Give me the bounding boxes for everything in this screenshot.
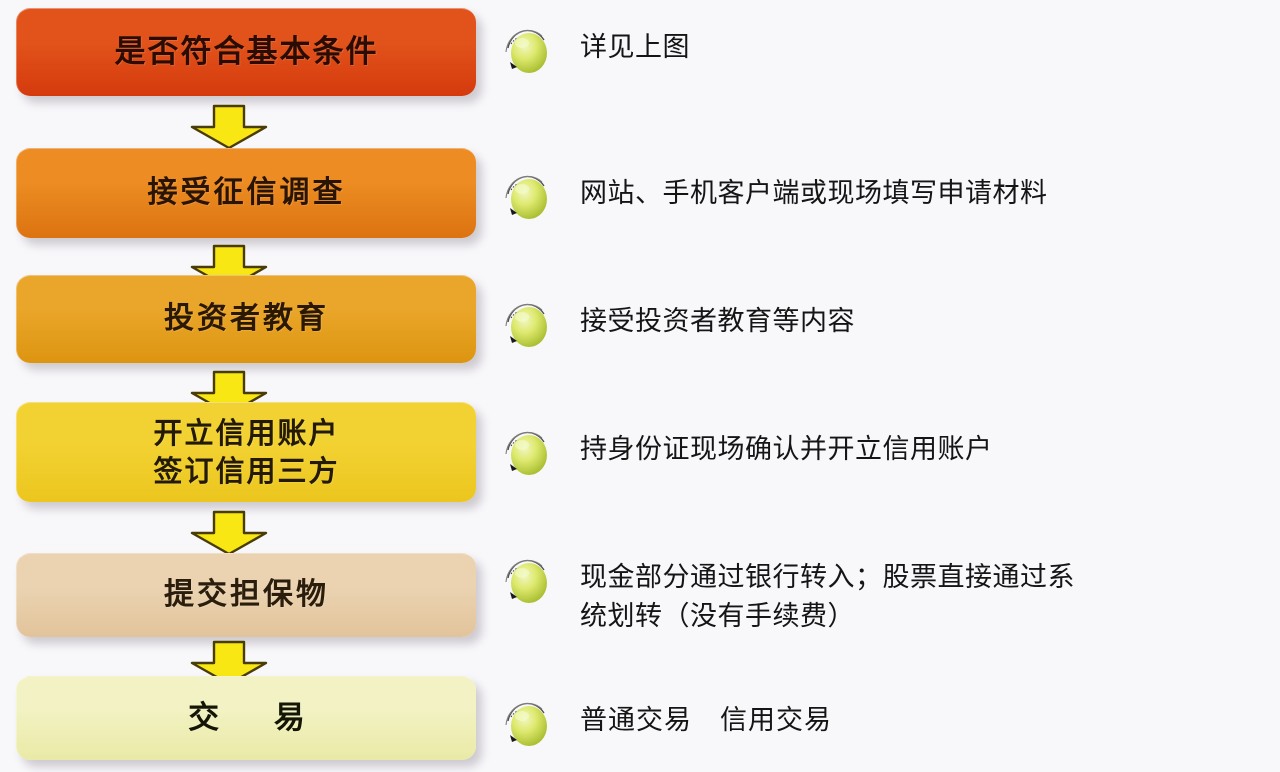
annotation-row: 普通交易 信用交易 — [500, 695, 1270, 751]
annotation-text: 现金部分通过银行转入；股票直接通过系 统划转（没有手续费） — [580, 552, 1075, 636]
process-step-label: 投资者教育 — [164, 300, 329, 338]
annotation-note-column: 详见上图 — [500, 0, 1280, 772]
annotation-row: 网站、手机客户端或现场填写申请材料 — [500, 168, 1270, 224]
process-step-box[interactable]: 是否符合基本条件 — [16, 8, 476, 96]
process-step-box[interactable]: 交 易 — [16, 676, 476, 760]
green-sphere-bullet-icon — [500, 424, 556, 480]
green-sphere-bullet-icon — [500, 22, 556, 78]
process-step-box[interactable]: 提交担保物 — [16, 553, 476, 637]
process-step-label: 是否符合基本条件 — [115, 33, 379, 73]
process-step-column: 是否符合基本条件 接受征信调查 投资者教育 开立信用账户 签订信用三方 — [0, 0, 500, 772]
process-step-box[interactable]: 接受征信调查 — [16, 148, 476, 238]
green-sphere-bullet-icon — [500, 296, 556, 352]
process-step-label: 开立信用账户 签订信用三方 — [153, 415, 339, 489]
process-step-label: 提交担保物 — [164, 576, 329, 614]
process-step-box[interactable]: 开立信用账户 签订信用三方 — [16, 402, 476, 502]
annotation-row: 接受投资者教育等内容 — [500, 296, 1270, 352]
annotation-text: 网站、手机客户端或现场填写申请材料 — [580, 168, 1048, 213]
annotation-row: 持身份证现场确认并开立信用账户 — [500, 424, 1270, 480]
arrow-down-icon — [186, 104, 272, 150]
process-step-label: 交 易 — [166, 699, 327, 739]
annotation-row: 详见上图 — [500, 22, 1270, 78]
green-sphere-bullet-icon — [500, 695, 556, 751]
annotation-text: 详见上图 — [580, 22, 690, 67]
green-sphere-bullet-icon — [500, 552, 556, 608]
process-step-label: 接受征信调查 — [148, 174, 346, 212]
flowchart-container: 是否符合基本条件 接受征信调查 投资者教育 开立信用账户 签订信用三方 — [0, 0, 1280, 772]
green-sphere-bullet-icon — [500, 168, 556, 224]
arrow-down-icon — [186, 510, 272, 556]
annotation-row: 现金部分通过银行转入；股票直接通过系 统划转（没有手续费） — [500, 552, 1270, 636]
annotation-text: 普通交易 信用交易 — [580, 695, 832, 740]
annotation-text: 接受投资者教育等内容 — [580, 296, 855, 341]
process-step-box[interactable]: 投资者教育 — [16, 275, 476, 363]
annotation-text: 持身份证现场确认并开立信用账户 — [580, 424, 993, 469]
